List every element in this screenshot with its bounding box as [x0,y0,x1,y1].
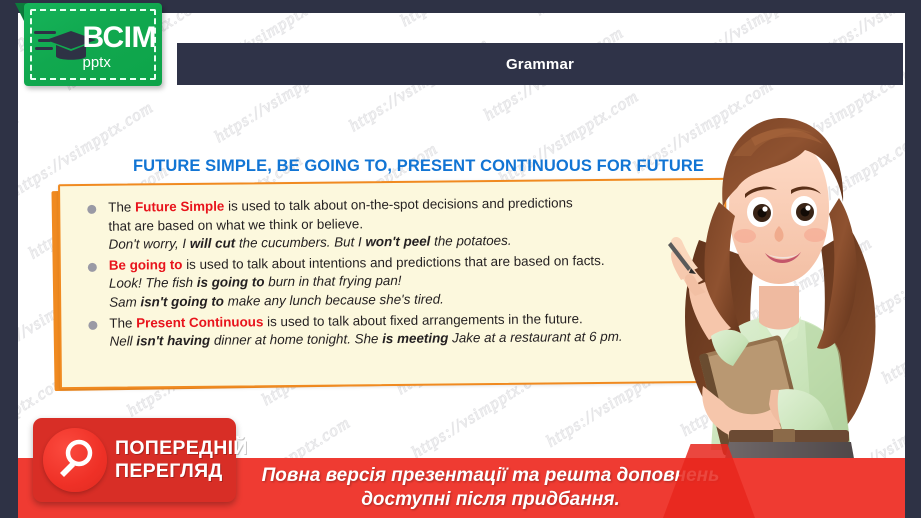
bullet-dot-icon [87,205,96,214]
grammar-keyword: Be going to [109,257,183,273]
grammar-bullet: Be going to is used to talk about intent… [81,251,712,313]
slide-root: Grammar FUTURE SIMPLE, BE GOING TO, PRES… [0,0,921,518]
bullet-dot-icon [88,320,97,329]
logo-text: ВСІМ pptx [82,23,156,71]
grammar-panel: The Future Simple is used to talk about … [51,180,731,390]
preview-badge-label: ПОПЕРЕДНІЙ ПЕРЕГЛЯД [115,437,248,483]
slide-header-bar: Grammar [177,43,903,85]
logo-card: ВСІМ pptx [24,3,162,86]
banner-line2: доступні після придбання. [361,488,620,512]
grammar-keyword: Future Simple [135,199,224,215]
grammar-keyword: Present Continuous [136,314,263,330]
teacher-illustration [655,90,891,475]
panel-content: The Future Simple is used to talk about … [80,193,712,381]
brand-logo[interactable]: ВСІМ pptx [24,3,162,86]
panel-card: The Future Simple is used to talk about … [58,178,728,389]
logo-brand: ВСІМ [82,23,156,53]
preview-badge: ПОПЕРЕДНІЙ ПЕРЕГЛЯД [33,418,236,502]
preview-badge-line1: ПОПЕРЕДНІЙ [115,437,248,460]
magnifier-icon [43,428,107,492]
preview-badge-line2: ПЕРЕГЛЯД [115,460,248,483]
banner-line1: Повна версія презентації та решта доповн… [262,464,720,488]
grammar-bullet: The Present Continuous is used to talk a… [81,309,711,352]
grammar-bullet: The Future Simple is used to talk about … [80,193,711,255]
slide-page: Grammar FUTURE SIMPLE, BE GOING TO, PRES… [18,13,905,518]
slide-title: Grammar [506,56,574,73]
bullet-dot-icon [88,263,97,272]
section-heading-text: FUTURE SIMPLE, BE GOING TO, PRESENT CONT… [133,157,704,176]
logo-sub: pptx [82,54,156,71]
